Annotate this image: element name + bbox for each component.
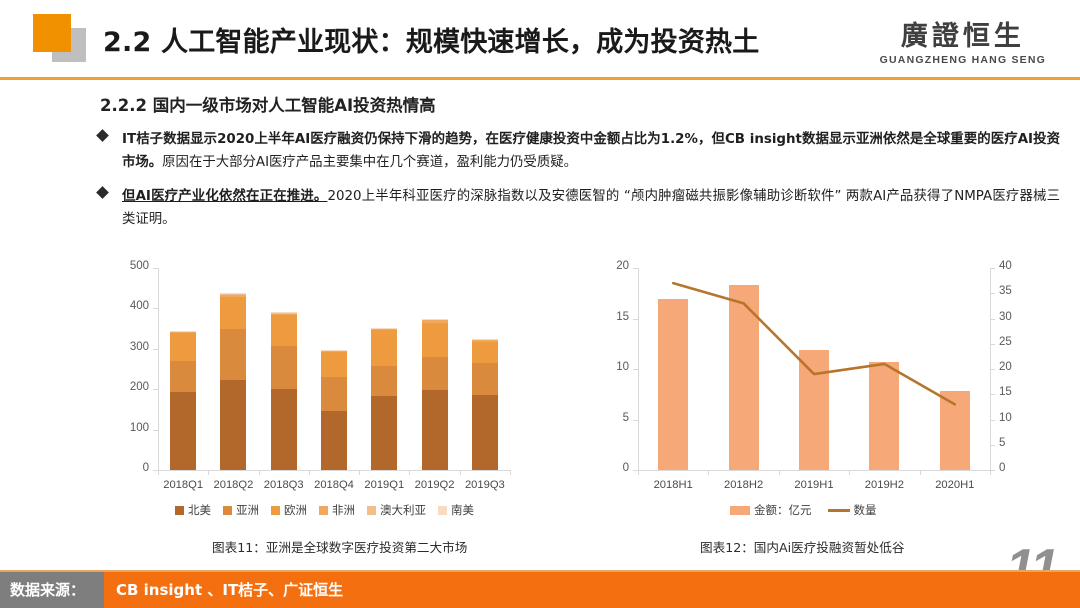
legend-item: 非洲 xyxy=(319,502,355,518)
x-tick xyxy=(208,470,209,475)
y-axis-left-tick-label: 20 xyxy=(598,260,629,272)
y-axis-tick-label: 100 xyxy=(112,422,149,434)
bar-segment xyxy=(170,331,196,332)
bar-segment xyxy=(220,293,246,294)
x-axis-tick-label: 2018H1 xyxy=(637,479,709,491)
diamond-bullet-icon xyxy=(96,186,109,199)
bar-segment xyxy=(220,297,246,329)
y-axis-tick-label: 300 xyxy=(112,341,149,353)
y-tick xyxy=(153,308,158,309)
bar-segment xyxy=(271,346,297,390)
legend-item: 北美 xyxy=(175,502,211,518)
legend-right: 金额：亿元数量 xyxy=(730,502,877,518)
bar-segment xyxy=(321,411,347,470)
decor-orange-square xyxy=(33,14,71,52)
y-tick-left xyxy=(633,369,638,370)
x-tick xyxy=(158,470,159,475)
y-tick-left xyxy=(633,319,638,320)
table-row xyxy=(321,268,347,470)
legend-item: 南美 xyxy=(438,502,474,518)
x-tick xyxy=(409,470,410,475)
bar-segment xyxy=(371,366,397,396)
y-axis-right-tick-label: 20 xyxy=(999,361,1012,373)
y-tick-left xyxy=(633,268,638,269)
y-tick-right xyxy=(990,268,995,269)
x-tick xyxy=(638,470,639,475)
x-tick xyxy=(990,470,991,475)
legend-item: 欧洲 xyxy=(271,502,307,518)
bar-segment xyxy=(472,395,498,470)
y-axis-right-tick-label: 15 xyxy=(999,386,1012,398)
caption-chart11: 图表11：亚洲是全球数字医疗投资第二大市场 xyxy=(212,537,467,556)
x-tick xyxy=(460,470,461,475)
bar-segment xyxy=(170,361,196,393)
bullet-emphasis: 但AI医疗产业化依然在正在推进。 xyxy=(122,189,327,204)
y-axis-right-tick-label: 5 xyxy=(999,437,1005,449)
bar-segment xyxy=(472,342,498,363)
y-axis-tick-label: 0 xyxy=(112,462,149,474)
x-tick xyxy=(920,470,921,475)
footer-source-label: 数据来源： xyxy=(10,579,85,600)
y-axis-right-tick-label: 10 xyxy=(999,412,1012,424)
y-axis-left-tick-label: 5 xyxy=(598,412,629,424)
chart-combo: 0510152005101520253035402018H12018H22019… xyxy=(598,262,1046,527)
bar-segment xyxy=(271,314,297,316)
list-item: IT桔子数据显示2020上半年AI医疗融资仍保持下滑的趋势，在医疗健康投资中金额… xyxy=(98,128,1060,174)
bar xyxy=(940,391,970,470)
bar-segment xyxy=(422,357,448,390)
legend-label: 亚洲 xyxy=(236,502,259,518)
bar-segment xyxy=(422,320,448,322)
y-axis-right-tick-label: 30 xyxy=(999,311,1012,323)
bullet-list: IT桔子数据显示2020上半年AI医疗融资仍保持下滑的趋势，在医疗健康投资中金额… xyxy=(98,128,1060,242)
bar-segment xyxy=(371,329,397,331)
legend-label: 欧洲 xyxy=(284,502,307,518)
y-axis-line xyxy=(158,268,159,470)
legend-label: 南美 xyxy=(451,502,474,518)
y-tick-right xyxy=(990,394,995,395)
bar-segment xyxy=(220,380,246,470)
y-tick-right xyxy=(990,319,995,320)
section-subheading: 2.2.2 国内一级市场对人工智能AI投资热情高 xyxy=(100,92,436,116)
legend-left: 北美亚洲欧洲非洲澳大利亚南美 xyxy=(175,502,474,518)
legend-label: 北美 xyxy=(188,502,211,518)
y-tick-right xyxy=(990,420,995,421)
legend-item: 澳大利亚 xyxy=(367,502,426,518)
bar-segment xyxy=(170,392,196,470)
y-axis-right-tick-label: 25 xyxy=(999,336,1012,348)
x-tick xyxy=(708,470,709,475)
y-axis-tick-label: 200 xyxy=(112,381,149,393)
bar-segment xyxy=(472,363,498,395)
x-tick xyxy=(259,470,260,475)
x-axis-tick-label: 2019H1 xyxy=(778,479,850,491)
x-axis-tick-label: 2019H2 xyxy=(848,479,920,491)
bar-segment xyxy=(371,330,397,366)
brand-logo: 廣證恒生 GUANGZHENG HANG SENG xyxy=(880,22,1046,66)
page-title: 2.2 人工智能产业现状：规模快速增长，成为投资热土 xyxy=(103,20,759,59)
legend-swatch xyxy=(730,506,750,515)
bar xyxy=(729,285,759,470)
y-tick-right xyxy=(990,344,995,345)
legend-swatch xyxy=(223,506,232,515)
bar-segment xyxy=(422,390,448,470)
legend-label: 非洲 xyxy=(332,502,355,518)
y-axis-left-line xyxy=(638,268,639,470)
bar-segment xyxy=(271,315,297,345)
bar-segment xyxy=(321,377,347,411)
x-axis-tick-label: 2020H1 xyxy=(919,479,991,491)
bar-segment xyxy=(422,319,448,320)
x-axis-tick-label: 2019Q3 xyxy=(449,479,521,491)
bullet-remainder: 原因在于大部分AI医疗产品主要集中在几个赛道，盈利能力仍受质疑。 xyxy=(162,155,577,170)
legend-line-swatch xyxy=(828,509,850,512)
bar-segment xyxy=(271,313,297,314)
bar-segment xyxy=(271,389,297,470)
y-axis-right-tick-label: 0 xyxy=(999,462,1005,474)
y-tick xyxy=(153,389,158,390)
x-axis-tick-label: 2018H2 xyxy=(708,479,780,491)
bar-segment xyxy=(422,323,448,357)
legend-swatch xyxy=(367,506,376,515)
x-tick xyxy=(309,470,310,475)
table-row xyxy=(271,268,297,470)
legend-swatch xyxy=(175,506,184,515)
y-tick-right xyxy=(990,369,995,370)
bar xyxy=(658,299,688,470)
y-axis-left-tick-label: 10 xyxy=(598,361,629,373)
table-row xyxy=(220,268,246,470)
y-axis-tick-label: 500 xyxy=(112,260,149,272)
table-row xyxy=(170,268,196,470)
header-divider xyxy=(0,77,1080,80)
x-tick xyxy=(849,470,850,475)
bar-segment xyxy=(472,340,498,342)
footer-source-value: CB insight 、IT桔子、广证恒生 xyxy=(116,579,343,600)
y-tick-right xyxy=(990,293,995,294)
y-axis-right-tick-label: 35 xyxy=(999,285,1012,297)
y-tick xyxy=(153,430,158,431)
chart-stacked-bar: 01002003004005002018Q12018Q22018Q32018Q4… xyxy=(112,262,532,527)
legend-label: 澳大利亚 xyxy=(380,502,426,518)
y-tick xyxy=(153,349,158,350)
x-tick xyxy=(510,470,511,475)
list-item: 但AI医疗产业化依然在正在推进。2020上半年科亚医疗的深脉指数以及安德医智的 … xyxy=(98,185,1060,231)
bar-segment xyxy=(220,294,246,295)
bar-segment xyxy=(371,396,397,470)
diamond-bullet-icon xyxy=(96,129,109,142)
bar xyxy=(799,350,829,470)
legend-label: 金额：亿元 xyxy=(754,502,812,518)
x-axis-line xyxy=(638,470,990,471)
x-axis-line xyxy=(158,470,510,471)
brand-name-en: GUANGZHENG HANG SENG xyxy=(880,54,1046,66)
y-tick xyxy=(153,268,158,269)
bar-segment xyxy=(321,352,347,377)
y-axis-tick-label: 400 xyxy=(112,300,149,312)
y-axis-left-tick-label: 15 xyxy=(598,311,629,323)
bar-segment xyxy=(472,339,498,340)
x-tick xyxy=(779,470,780,475)
legend-swatch xyxy=(438,506,447,515)
bullet-text: IT桔子数据显示2020上半年AI医疗融资仍保持下滑的趋势，在医疗健康投资中金额… xyxy=(122,128,1060,174)
legend-swatch xyxy=(271,506,280,515)
bar-segment xyxy=(220,329,246,381)
brand-name-cn: 廣證恒生 xyxy=(880,22,1046,52)
x-tick xyxy=(359,470,360,475)
y-axis-left-tick-label: 0 xyxy=(598,462,629,474)
bullet-text: 但AI医疗产业化依然在正在推进。2020上半年科亚医疗的深脉指数以及安德医智的 … xyxy=(122,185,1060,231)
legend-item: 亚洲 xyxy=(223,502,259,518)
y-axis-right-tick-label: 40 xyxy=(999,260,1012,272)
caption-chart12: 图表12：国内Ai医疗投融资暂处低谷 xyxy=(700,537,904,556)
bar-segment xyxy=(321,351,347,352)
legend-item: 数量 xyxy=(828,502,877,518)
footer-bar: 数据来源： CB insight 、IT桔子、广证恒生 xyxy=(0,572,1080,608)
table-row xyxy=(422,268,448,470)
slide: 2.2 人工智能产业现状：规模快速增长，成为投资热土 廣證恒生 GUANGZHE… xyxy=(0,0,1080,608)
y-tick-left xyxy=(633,420,638,421)
table-row xyxy=(371,268,397,470)
legend-item: 金额：亿元 xyxy=(730,502,812,518)
bar xyxy=(869,362,899,470)
table-row xyxy=(472,268,498,470)
bar-segment xyxy=(220,295,246,297)
y-tick-right xyxy=(990,445,995,446)
bar-segment xyxy=(170,333,196,361)
legend-label: 数量 xyxy=(854,502,877,518)
legend-swatch xyxy=(319,506,328,515)
